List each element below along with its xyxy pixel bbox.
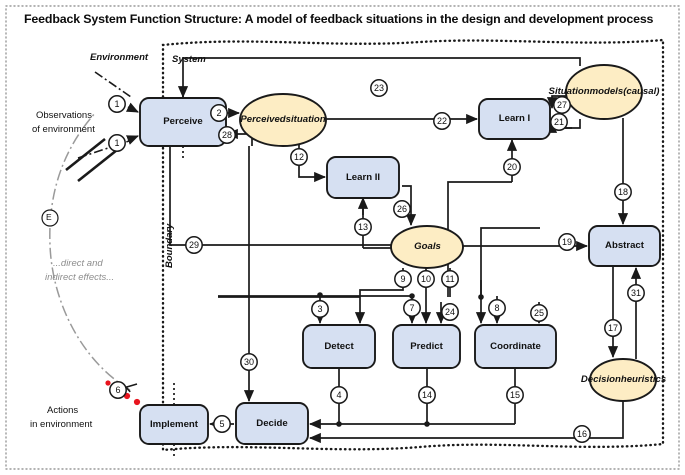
flow-number-26: 26 bbox=[394, 201, 410, 217]
flow-number-27: 27 bbox=[554, 97, 570, 113]
svg-text:6: 6 bbox=[115, 385, 120, 395]
observations-label-line2: of environment bbox=[32, 124, 95, 135]
diagram-canvas: 1122823222721122018261329199101137248251… bbox=[0, 0, 685, 475]
svg-text:16: 16 bbox=[577, 429, 587, 439]
node-situation-models-shape bbox=[566, 65, 642, 119]
flow-number-31: 31 bbox=[628, 285, 644, 301]
svg-text:17: 17 bbox=[608, 323, 618, 333]
svg-text:14: 14 bbox=[422, 390, 432, 400]
node-abstract-shape bbox=[589, 226, 660, 266]
svg-text:28: 28 bbox=[222, 130, 232, 140]
flow-number-17: 17 bbox=[605, 320, 621, 336]
svg-text:18: 18 bbox=[618, 187, 628, 197]
svg-text:22: 22 bbox=[437, 116, 447, 126]
node-perceived-situation-shape bbox=[240, 94, 326, 146]
svg-text:13: 13 bbox=[358, 222, 368, 232]
effects-label-line1: ...direct and bbox=[53, 258, 103, 269]
page-title: Feedback System Function Structure: A mo… bbox=[24, 12, 664, 26]
flow-number-9: 9 bbox=[395, 271, 411, 287]
flow-number-7: 7 bbox=[404, 300, 420, 316]
flow-number-15: 15 bbox=[507, 387, 523, 403]
flow-number-22: 22 bbox=[434, 113, 450, 129]
svg-text:7: 7 bbox=[409, 303, 414, 313]
flow-number-1: 1 bbox=[109, 135, 125, 151]
flow-number-23: 23 bbox=[371, 80, 387, 96]
svg-text:11: 11 bbox=[445, 274, 454, 284]
boundary-label: Boundary bbox=[164, 224, 175, 268]
svg-text:10: 10 bbox=[421, 274, 431, 284]
observations-label-line1: Observations bbox=[36, 110, 92, 121]
node-goals-shape bbox=[391, 226, 463, 268]
flow-number-30: 30 bbox=[241, 354, 257, 370]
node-decision-heuristics-shape bbox=[590, 359, 656, 401]
flow-number-24: 24 bbox=[442, 304, 458, 320]
node-perceive-shape bbox=[140, 98, 226, 146]
flow-number-12: 12 bbox=[291, 149, 307, 165]
flow-number-29: 29 bbox=[186, 237, 202, 253]
svg-text:25: 25 bbox=[534, 308, 544, 318]
svg-text:3: 3 bbox=[317, 304, 322, 314]
svg-text:29: 29 bbox=[189, 240, 199, 250]
flow-number-18: 18 bbox=[615, 184, 631, 200]
flow-number-19: 19 bbox=[559, 234, 575, 250]
flow-number-21: 21 bbox=[551, 114, 567, 130]
svg-text:15: 15 bbox=[510, 390, 520, 400]
flow-number-1: 1 bbox=[109, 96, 125, 112]
node-detect-shape bbox=[303, 325, 375, 368]
svg-text:2: 2 bbox=[216, 108, 221, 118]
node-learn-i-shape bbox=[479, 99, 550, 139]
actions-label-line1: Actions bbox=[47, 405, 78, 416]
system-label: System bbox=[172, 54, 206, 65]
svg-text:27: 27 bbox=[557, 100, 567, 110]
actions-label-line2: in environment bbox=[30, 419, 92, 430]
svg-text:1: 1 bbox=[114, 138, 119, 148]
svg-text:5: 5 bbox=[219, 419, 224, 429]
environment-label: Environment bbox=[90, 52, 148, 63]
flow-number-20: 20 bbox=[504, 159, 520, 175]
svg-text:24: 24 bbox=[445, 307, 455, 317]
flow-number-14: 14 bbox=[419, 387, 435, 403]
node-implement-shape bbox=[140, 405, 208, 444]
flow-number-4: 4 bbox=[331, 387, 347, 403]
flow-number-11: 11 bbox=[442, 271, 458, 287]
svg-text:26: 26 bbox=[397, 204, 407, 214]
flow-number-10: 10 bbox=[418, 271, 434, 287]
env-marker-label: E bbox=[46, 212, 52, 222]
node-predict-shape bbox=[393, 325, 460, 368]
svg-text:1: 1 bbox=[114, 99, 119, 109]
flow-number-3: 3 bbox=[312, 301, 328, 317]
svg-text:30: 30 bbox=[244, 357, 254, 367]
flow-number-25: 25 bbox=[531, 305, 547, 321]
svg-text:9: 9 bbox=[400, 274, 405, 284]
flow-number-13: 13 bbox=[355, 219, 371, 235]
svg-text:19: 19 bbox=[562, 237, 572, 247]
flow-number-8: 8 bbox=[489, 300, 505, 316]
node-learn-ii-shape bbox=[327, 157, 399, 198]
flow-number-28: 28 bbox=[219, 127, 235, 143]
node-decide-shape bbox=[236, 403, 308, 444]
svg-text:23: 23 bbox=[374, 83, 384, 93]
flow-number-5: 5 bbox=[214, 416, 230, 432]
svg-text:31: 31 bbox=[631, 288, 641, 298]
svg-text:4: 4 bbox=[336, 390, 341, 400]
flow-number-16: 16 bbox=[574, 426, 590, 442]
flow-number-6: 6 bbox=[110, 382, 126, 398]
effects-label-line2: indirect effects... bbox=[45, 272, 114, 283]
svg-text:12: 12 bbox=[294, 152, 304, 162]
feedback-system-diagram: 1122823222721122018261329199101137248251… bbox=[0, 0, 685, 475]
svg-text:8: 8 bbox=[494, 303, 499, 313]
svg-text:21: 21 bbox=[554, 117, 564, 127]
flow-number-2: 2 bbox=[211, 105, 227, 121]
svg-text:20: 20 bbox=[507, 162, 517, 172]
node-coordinate-shape bbox=[475, 325, 556, 368]
